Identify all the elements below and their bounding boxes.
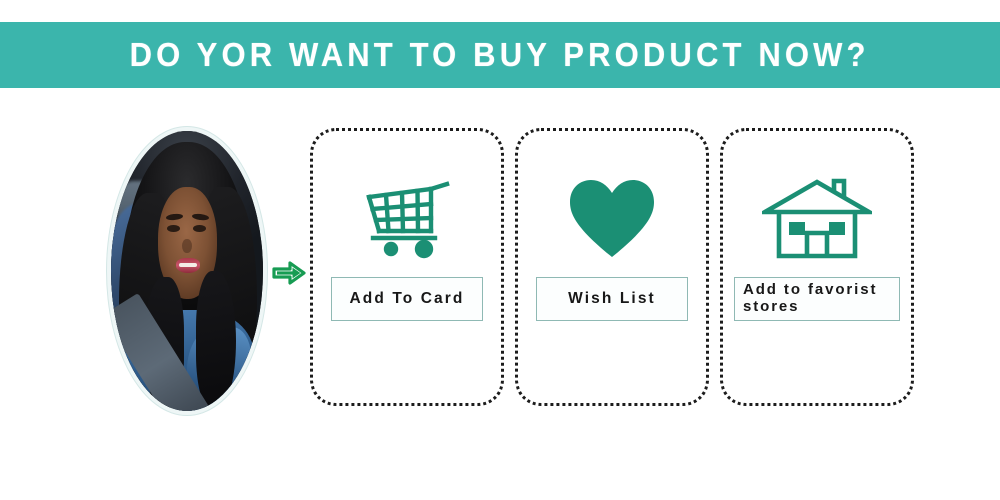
add-to-cart-button[interactable]: Add To Card [331,277,483,321]
option-card-label: Add to favorist stores [743,282,891,316]
house-icon [762,173,872,265]
eye-right [193,225,206,232]
arrow-right-icon [272,260,306,286]
hair-front-right [196,271,236,411]
add-to-favorite-stores-button[interactable]: Add to favorist stores [734,277,900,321]
header-banner: DO YOR WANT TO BUY PRODUCT NOW? [0,22,1000,88]
option-card-add-to-cart[interactable]: Add To Card [310,128,504,406]
option-card-label: Wish List [568,290,656,307]
wish-list-button[interactable]: Wish List [536,277,688,321]
option-card-wish-list[interactable]: Wish List [515,128,709,406]
page-title: DO YOR WANT TO BUY PRODUCT NOW? [130,36,870,74]
heart-icon [566,173,658,265]
shopping-cart-icon [361,173,453,265]
nose [182,239,191,253]
main-content: Add To Card Wish List [0,110,1000,410]
teeth [179,263,197,267]
option-card-label: Add To Card [350,290,465,307]
option-card-favorite-stores[interactable]: Add to favorist stores [720,128,914,406]
portrait-photo [107,127,267,415]
options-row: Add To Card Wish List [310,128,920,408]
avatar [111,131,263,411]
